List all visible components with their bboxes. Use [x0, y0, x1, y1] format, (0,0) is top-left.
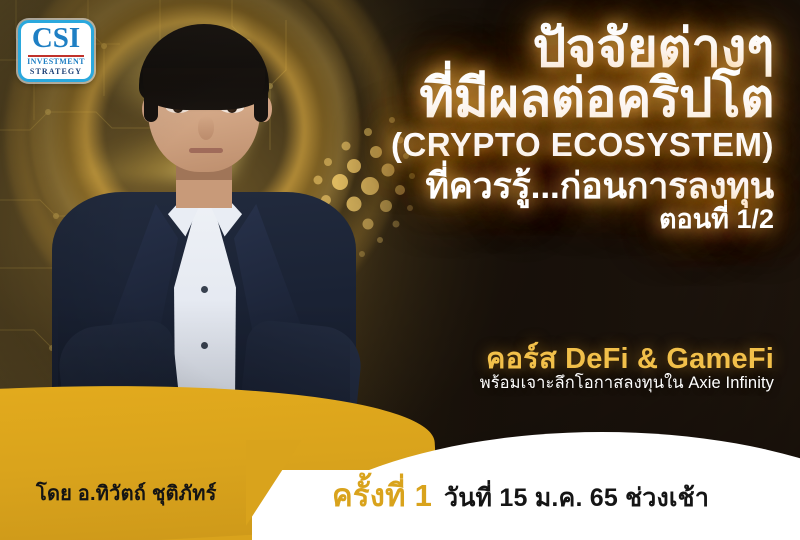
course-subtitle: พร้อมเจาะลึกโอกาสลงทุนใน Axie Infinity — [304, 370, 774, 396]
promo-poster: CSI INVESTMENT STRATEGY ปัจจัยต่างๆ ที่ม… — [0, 0, 800, 540]
headline-line-2: ที่มีผลต่อคริปโต — [304, 72, 774, 126]
headline-line-1: ปัจจัยต่างๆ — [304, 22, 774, 76]
logo-subtext-investment: INVESTMENT — [27, 58, 85, 67]
schedule-date: วันที่ 15 ม.ค. 65 ช่วงเช้า — [444, 478, 709, 518]
speaker-name: โดย อ.ทิวัตถ์ ชุติภัทร์ — [36, 477, 217, 509]
headline-block: ปัจจัยต่างๆ ที่มีผลต่อคริปโต (CRYPTO ECO… — [304, 22, 774, 234]
csi-logo: CSI INVESTMENT STRATEGY — [18, 20, 94, 82]
headline-line-4: ที่ควรรู้...ก่อนการลงทุน — [304, 168, 774, 205]
schedule-round: ครั้งที่ 1 — [332, 470, 432, 520]
schedule-row: ครั้งที่ 1 วันที่ 15 ม.ค. 65 ช่วงเช้า — [332, 470, 709, 520]
headline-episode: ตอนที่ 1/2 — [304, 206, 774, 234]
headline-line-3-english: (CRYPTO ECOSYSTEM) — [304, 128, 774, 162]
logo-subtext-strategy: STRATEGY — [30, 67, 82, 77]
logo-wordmark: CSI — [32, 24, 80, 53]
